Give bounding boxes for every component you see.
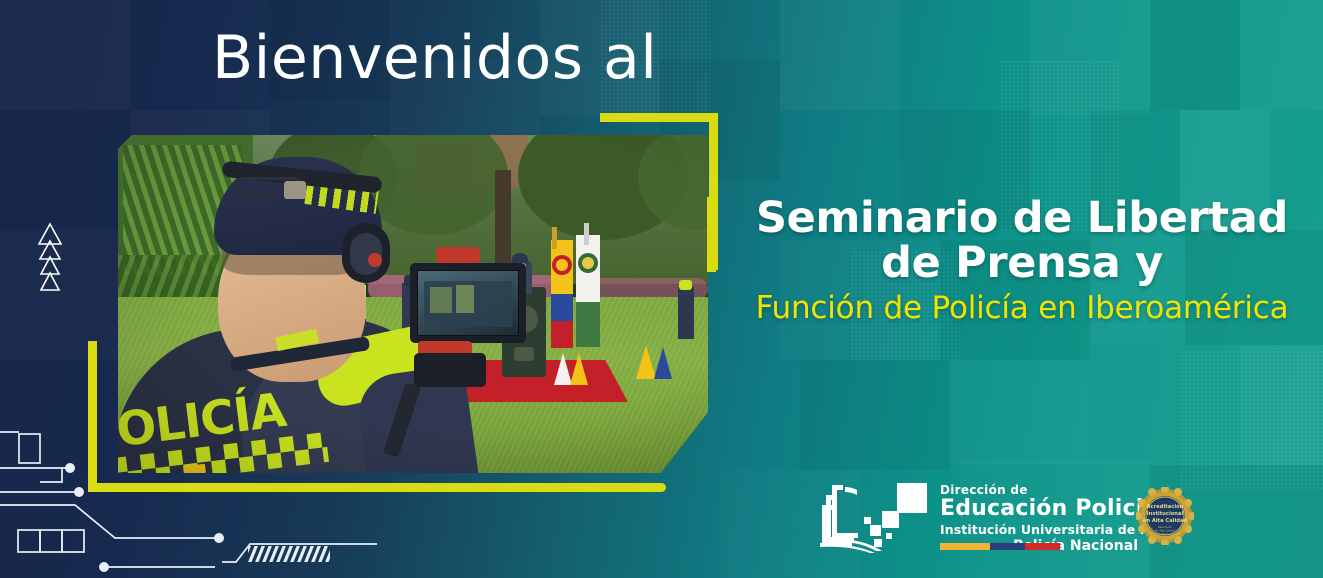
diagonal-hatch-band	[222, 540, 487, 570]
svg-text:en Alta Calidad: en Alta Calidad	[1143, 518, 1188, 524]
logo-line-2: Educación Policial	[940, 498, 1166, 520]
logo-line-3: Institución Universitaria de la	[940, 522, 1166, 537]
headings-block: Seminario de Libertad de Prensa y Funció…	[722, 196, 1322, 326]
seminar-title-line1: Seminario de Libertad	[722, 196, 1322, 241]
bracket-left-vertical	[88, 341, 97, 491]
svg-text:Por Alta Calidad: Por Alta Calidad	[1155, 529, 1176, 533]
svg-text:del 31 de Marzo de 2021: del 31 de Marzo de 2021	[1149, 532, 1182, 536]
stacked-triangles-decor	[30, 222, 70, 303]
welcome-title: Bienvenidos al	[212, 23, 657, 93]
colombia-flag-bar	[940, 543, 1060, 550]
seminar-subtitle: Función de Policía en Iberoamérica	[722, 291, 1322, 325]
acreditacion-seal: Acreditación Institucional en Alta Calid…	[1136, 487, 1194, 545]
banner-root: Bienvenidos al	[0, 0, 1323, 578]
heading-accent-bar	[707, 197, 716, 272]
bracket-bottom-horizontal	[88, 483, 666, 492]
svg-text:Acreditación: Acreditación	[1147, 503, 1184, 510]
photo-frame: OLICÍA	[118, 135, 708, 473]
seminar-title: Seminario de Libertad de Prensa y	[722, 196, 1322, 285]
logo-line-1: Dirección de	[940, 483, 1166, 497]
logo-text-block: Dirección de Educación Policial Instituc…	[940, 483, 1166, 554]
bracket-top-horizontal	[600, 113, 718, 122]
triangles-icon	[30, 222, 70, 298]
hatch-icon	[222, 540, 487, 570]
open-book-pixels-icon	[812, 481, 932, 553]
svg-text:Institucional: Institucional	[1147, 511, 1184, 517]
svg-text:Resolución: Resolución	[1158, 525, 1172, 529]
seminar-title-line2: de Prensa y	[722, 241, 1322, 286]
ceremony-photo: OLICÍA	[118, 135, 708, 473]
